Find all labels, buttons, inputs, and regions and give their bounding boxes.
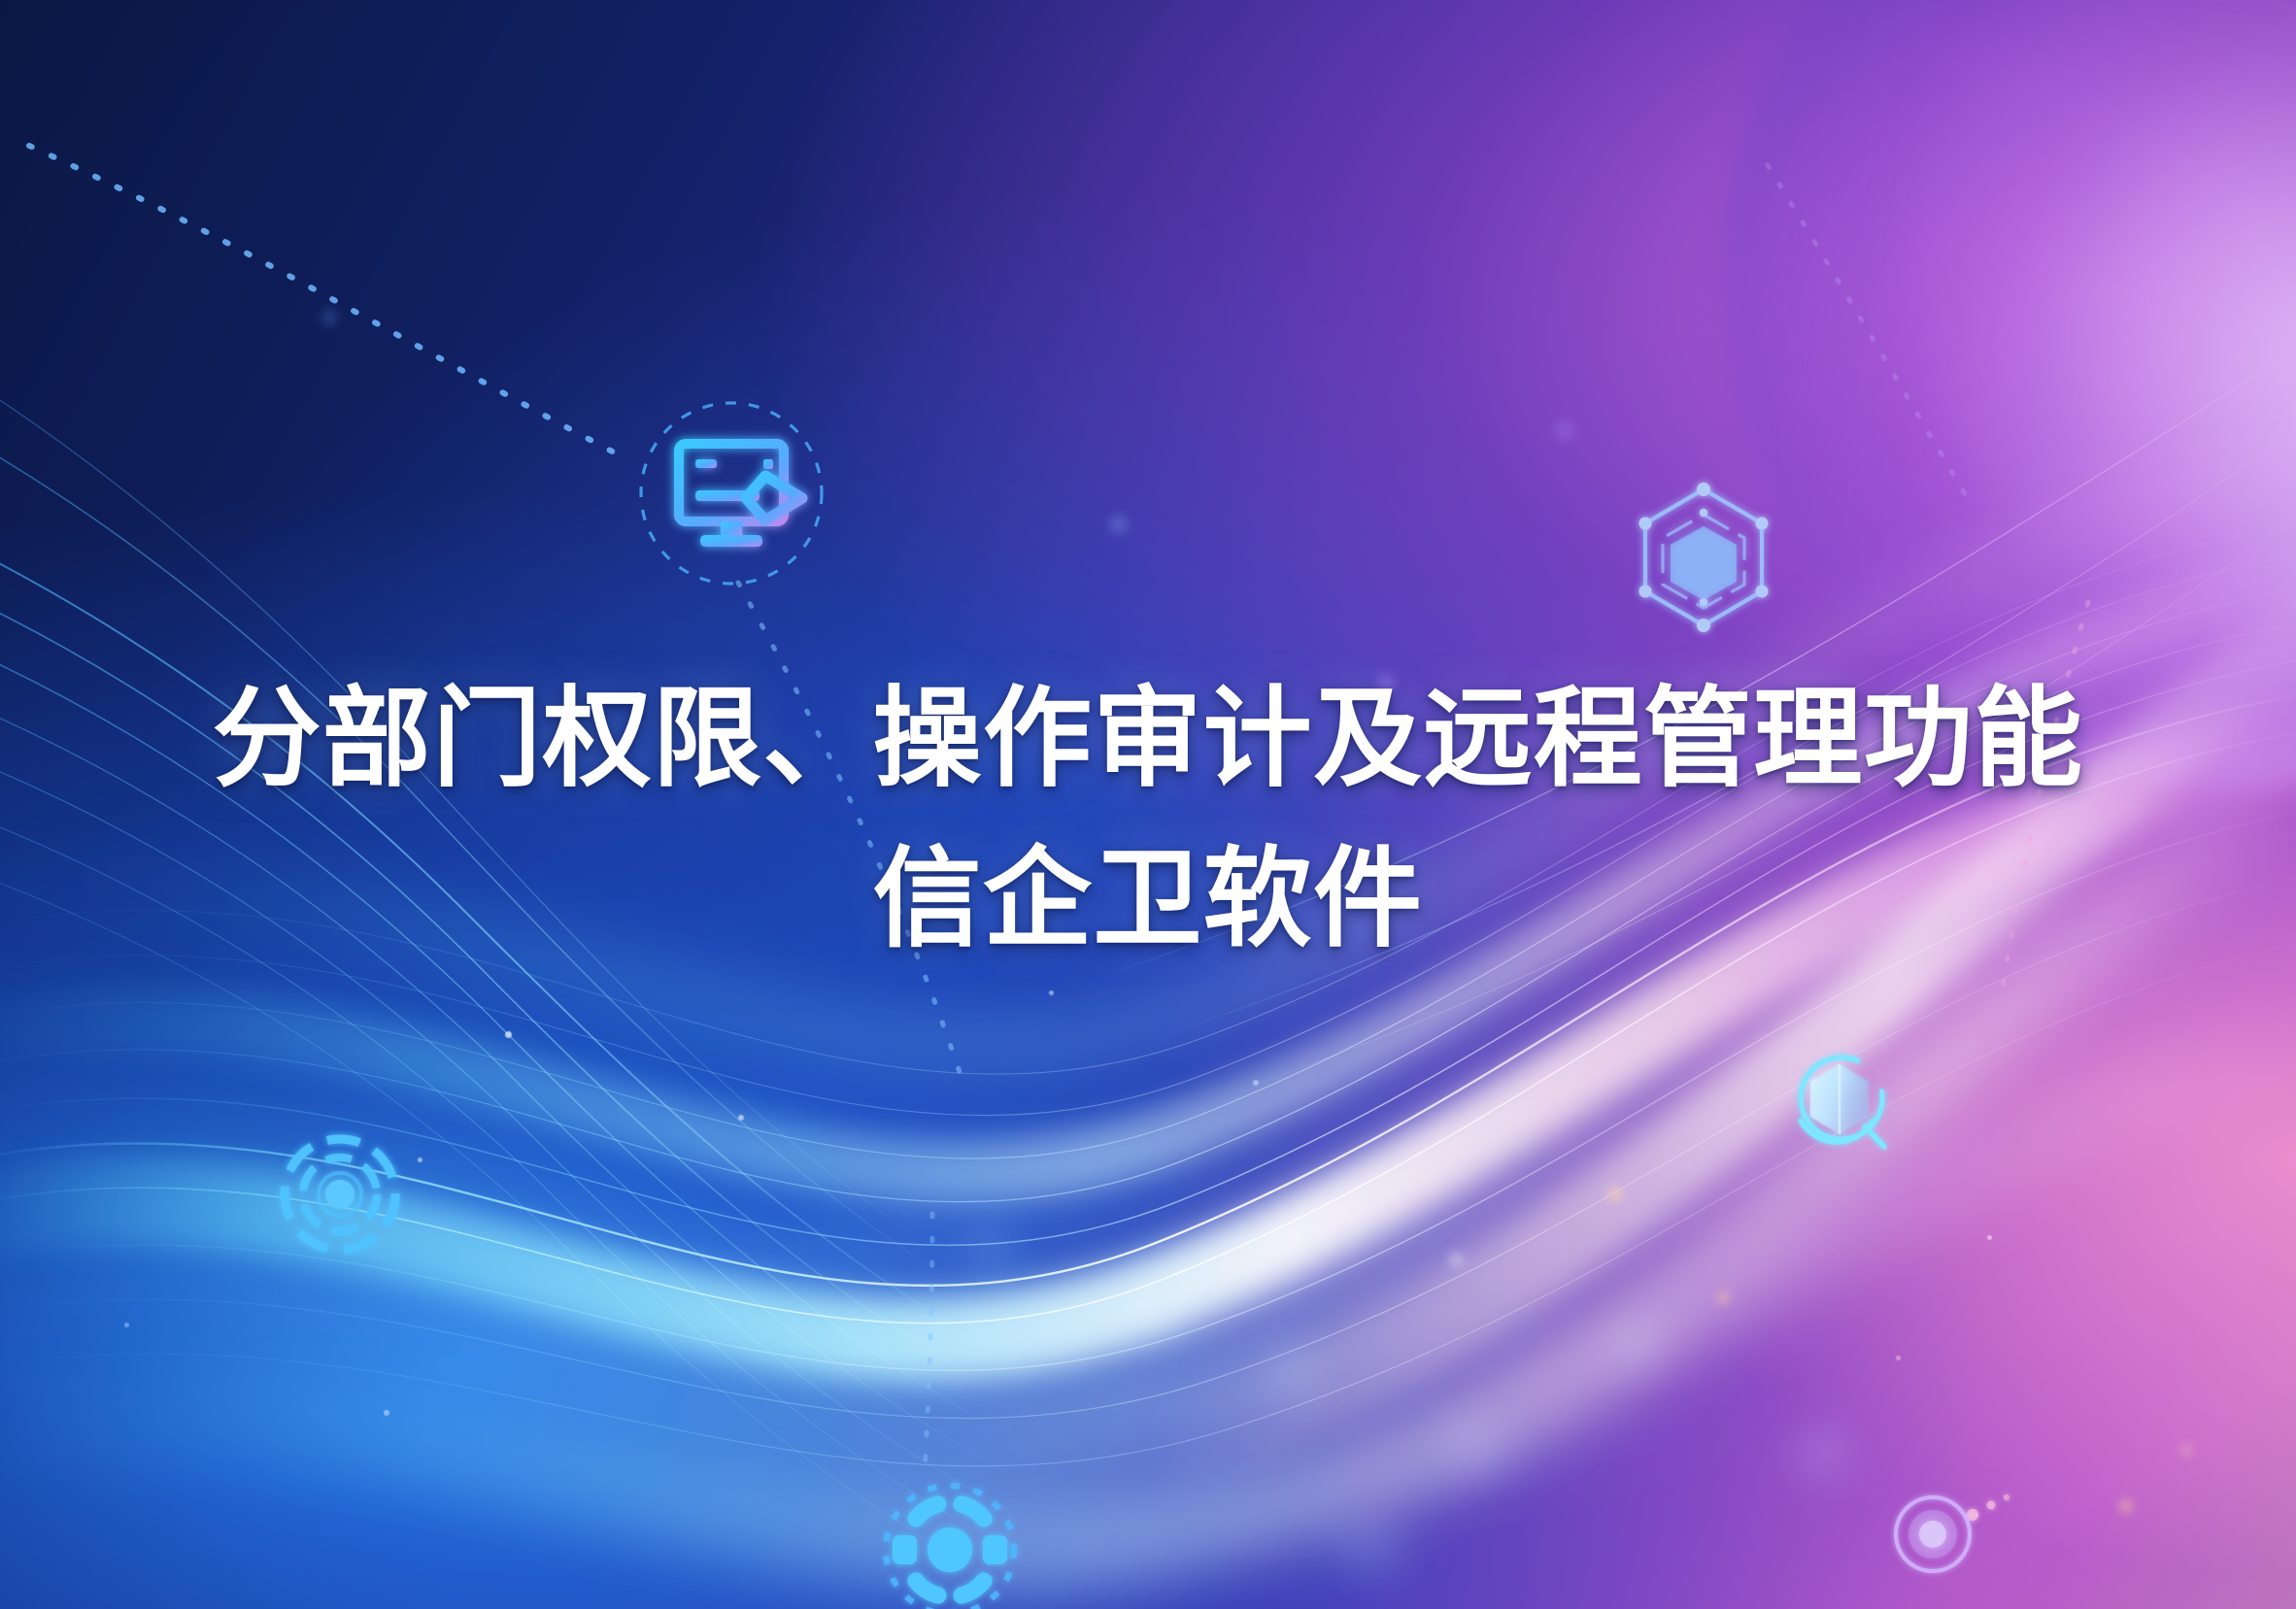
particle-glow [321,309,338,326]
target-ring-icon [274,1128,406,1260]
particle [418,1157,422,1162]
hex-audit-search-icon [1775,1037,1904,1165]
bokeh-key-row [760,1180,1493,1404]
particle [384,1410,389,1416]
particle-glow [2119,1499,2133,1513]
hexagon-core [1671,526,1737,600]
bokeh-dot [1777,1418,1867,1488]
center-dot [325,1180,355,1209]
headline-block: 分部门权限、操作审计及远程管理功能 信企卫软件 [0,670,2296,967]
particle-glow [1607,1187,1623,1202]
particle [738,1115,744,1121]
bokeh-dot [1428,1410,1525,1486]
particle [505,1031,512,1038]
ripple-circle-icon [1873,1464,2018,1609]
bokeh-key-row [682,1094,1358,1306]
particle-glow [1449,1253,1464,1267]
trailing-dots [1967,1494,2009,1521]
ripple-core [1919,1521,1946,1548]
page-title-line-2: 信企卫软件 [0,830,2296,967]
particle [1049,990,1054,995]
monitor-shield-icon [631,393,831,593]
particle-glow [1554,419,1575,441]
magnifier-handle [1865,1126,1884,1147]
dotted-arc-bottom [925,1214,932,1476]
wheel-hub [928,1527,972,1572]
particle [1896,1356,1901,1360]
monitor-glyph [679,444,802,547]
particle [124,1323,129,1327]
particle-glow [1109,515,1129,534]
particle-glow [2181,1445,2192,1456]
hex-network-icon [1620,474,1787,641]
bokeh-dot [1107,1280,1200,1352]
bokeh-dot [1253,1342,1334,1406]
particle-glow [1717,1291,1730,1304]
banner-root: 分部门权限、操作审计及远程管理功能 信企卫软件 [0,0,2296,1609]
dotted-arc-upper-left [29,146,622,456]
segmented-wheel-icon [872,1472,1028,1609]
bokeh-dot [952,1216,1028,1276]
particle [1253,1080,1259,1086]
particle [1987,1235,1992,1240]
page-title-line-1: 分部门权限、操作审计及远程管理功能 [0,670,2296,807]
bokeh-key-row [956,1373,1745,1609]
bokeh-dot [1321,1510,1422,1588]
bokeh-dot [1593,1311,1678,1379]
